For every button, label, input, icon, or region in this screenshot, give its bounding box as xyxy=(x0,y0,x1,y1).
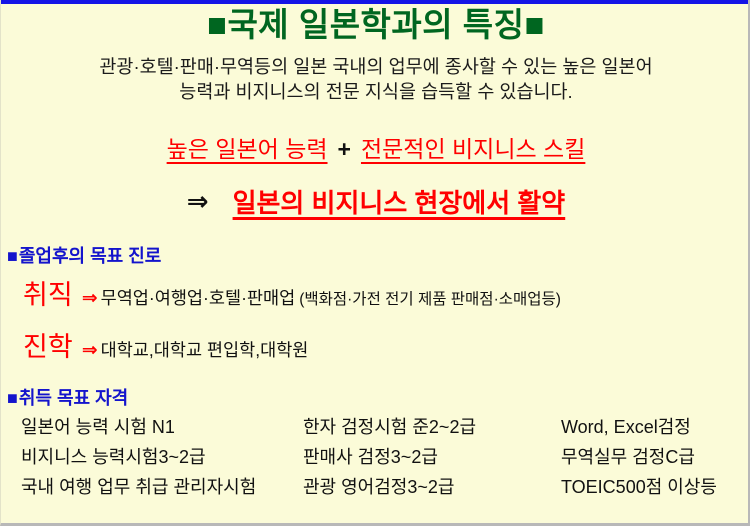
qualifications-grid: 일본어 능력 시험 N1 한자 검정시험 준2~2급 Word, Excel검정… xyxy=(1,414,750,501)
equation-plus-operator: + xyxy=(334,136,355,162)
arrow-icon: ⇒ xyxy=(73,339,101,362)
qualification-item: 한자 검정시험 준2~2급 xyxy=(301,414,559,441)
career-row: 진학 ⇒ 대학교,대학교 편입학,대학원 xyxy=(1,325,750,364)
arrow-icon: ⇒ xyxy=(73,287,101,310)
section-header-qualifications-label: 취득 목표 자격 xyxy=(19,388,128,408)
square-bullet-icon: ■ xyxy=(7,388,19,408)
equation-right-term: 전문적인 비지니스 스킬 xyxy=(355,136,591,162)
career-label-advancement: 진학 xyxy=(23,325,73,364)
qualification-item: 일본어 능력 시험 N1 xyxy=(21,414,301,441)
square-bullet-icon: ■ xyxy=(7,246,19,266)
qualification-item: 관광 영어검정3~2급 xyxy=(301,474,559,501)
qualification-item: 비지니스 능력시험3~2급 xyxy=(21,444,301,471)
section-header-career: ■졸업후의 목표 진로 xyxy=(1,242,750,268)
qualification-item: 판매사 검정3~2급 xyxy=(301,444,559,471)
section-header-qualifications: ■취득 목표 자격 xyxy=(1,384,750,410)
qualification-item: 국내 여행 업무 취급 관리자시험 xyxy=(21,474,301,501)
career-label-employment: 취직 xyxy=(23,273,73,312)
skills-equation: 높은 일본어 능력+전문적인 비지니스 스킬 xyxy=(1,130,750,164)
page-title: ■국제 일본학과의 특징■ xyxy=(1,6,750,44)
career-note: (백화점·가전 전기 제품 판매점·소매업등) xyxy=(295,287,561,309)
career-description: 대학교,대학교 편입학,대학원 xyxy=(101,337,309,362)
section-header-career-label: 졸업후의 목표 진로 xyxy=(19,246,161,266)
conclusion-statement: ⇒일본의 비지니스 현장에서 활약 xyxy=(1,183,750,220)
subtitle-line-1: 관광·호텔·판매·무역등의 일본 국내의 업무에 종사할 수 있는 높은 일본어 xyxy=(17,54,735,80)
qualification-item: Word, Excel검정 xyxy=(559,414,750,441)
subtitle-paragraph: 관광·호텔·판매·무역등의 일본 국내의 업무에 종사할 수 있는 높은 일본어… xyxy=(1,54,750,105)
conclusion-text: 일본의 비지니스 현장에서 활약 xyxy=(233,188,566,218)
slide-content: ■국제 일본학과의 특징■ 관광·호텔·판매·무역등의 일본 국내의 업무에 종… xyxy=(1,4,750,523)
double-arrow-icon: ⇒ xyxy=(187,186,233,216)
career-row: 취직 ⇒ 무역업·여행업·호텔·판매업 (백화점·가전 전기 제품 판매점·소매… xyxy=(1,273,750,312)
equation-left-term: 높은 일본어 능력 xyxy=(161,136,334,162)
career-description: 무역업·여행업·호텔·판매업 xyxy=(101,285,296,310)
subtitle-line-2: 능력과 비지니스의 전문 지식을 습득할 수 있습니다. xyxy=(17,79,735,105)
qualification-item: 무역실무 검정C급 xyxy=(559,444,750,471)
slide-canvas: ■국제 일본학과의 특징■ 관광·호텔·판매·무역등의 일본 국내의 업무에 종… xyxy=(0,0,750,526)
qualification-item: TOEIC500점 이상등 xyxy=(559,474,750,501)
